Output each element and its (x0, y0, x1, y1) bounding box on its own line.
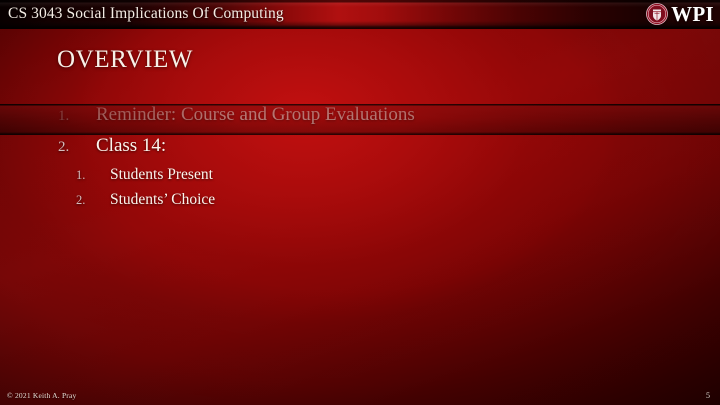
list-item-label: Students’ Choice (110, 191, 215, 209)
list-item[interactable]: 1. Students Present (0, 166, 720, 191)
course-title: CS 3043 Social Implications Of Computing (8, 2, 284, 26)
slide-header-bar: CS 3043 Social Implications Of Computing… (0, 0, 720, 29)
overview-list: 1. Reminder: Course and Group Evaluation… (0, 104, 720, 216)
list-item[interactable]: 2. Students’ Choice (0, 191, 720, 216)
list-item-label: Students Present (110, 166, 213, 184)
list-item-number: 1. (76, 168, 110, 183)
list-item[interactable]: 1. Reminder: Course and Group Evaluation… (0, 104, 720, 135)
presentation-slide: CS 3043 Social Implications Of Computing… (0, 0, 720, 405)
wpi-logo: WPI (646, 1, 714, 27)
page-number: 5 (706, 391, 710, 401)
list-item-label: Class 14: (96, 135, 166, 157)
list-item-number: 1. (58, 108, 96, 125)
list-item[interactable]: 2. Class 14: (0, 135, 720, 166)
page-title: OVERVIEW (57, 45, 193, 75)
list-item-number: 2. (76, 193, 110, 208)
wpi-wordmark: WPI (671, 3, 714, 25)
copyright-notice: © 2021 Keith A. Pray (7, 391, 77, 401)
list-item-number: 2. (58, 139, 96, 156)
wpi-seal-icon (646, 3, 668, 25)
list-item-label: Reminder: Course and Group Evaluations (96, 104, 415, 126)
